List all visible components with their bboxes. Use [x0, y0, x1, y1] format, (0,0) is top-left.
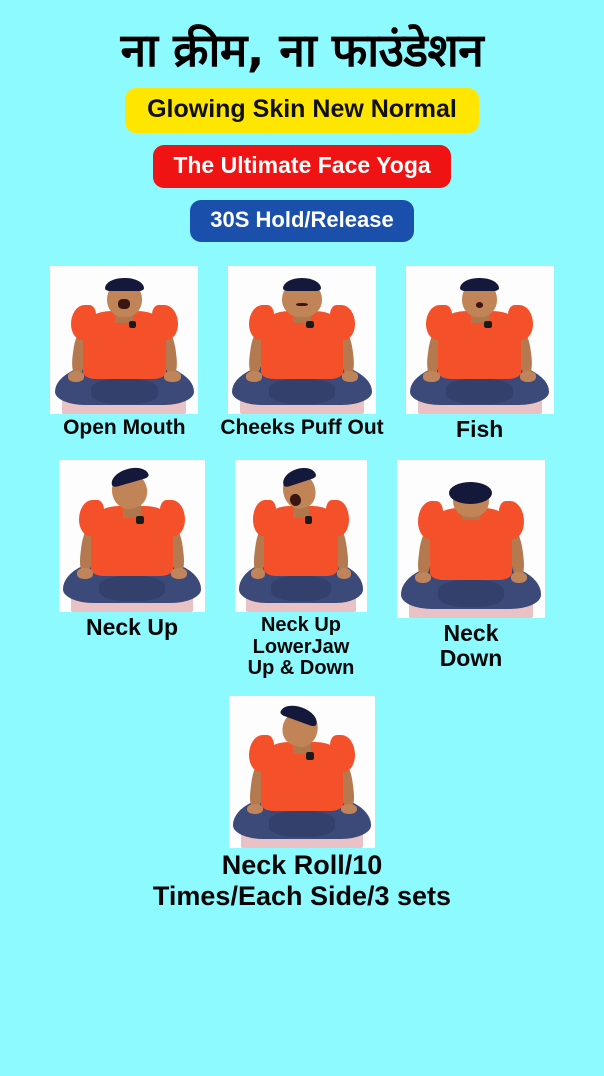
sleeve-right	[330, 735, 355, 771]
exercise-neck-up: Neck Up	[59, 460, 205, 640]
sleeve-left	[249, 735, 274, 771]
face-yoga-poster: ना क्रीम, ना फाउंडेशन Glowing Skin New N…	[0, 0, 604, 1076]
hand-left	[246, 371, 262, 381]
pose-photo-fish	[406, 266, 554, 414]
sleeve-left	[418, 501, 443, 539]
sleeve-left	[71, 305, 96, 341]
badge-ultimate-face-yoga: The Ultimate Face Yoga	[153, 145, 450, 188]
sleeve-right	[326, 500, 348, 536]
pose-photo-neck-up	[59, 460, 205, 612]
exercise-label-neck-roll: Neck Roll/10 Times/Each Side/3 sets	[153, 850, 451, 912]
hand-left	[251, 568, 266, 579]
microphone-icon	[305, 516, 312, 524]
exercise-label-cheeks-puff-out: Cheeks Puff Out	[220, 417, 383, 440]
hand-right	[337, 568, 352, 579]
exercise-label-neck-down: Neck Down	[440, 621, 503, 671]
hand-right	[171, 568, 187, 579]
hand-left	[415, 572, 431, 583]
microphone-icon	[136, 516, 143, 524]
badge-hold-release: 30S Hold/Release	[190, 200, 413, 242]
exercise-open-mouth: Open Mouth	[50, 266, 198, 440]
badge-glowing-skin: Glowing Skin New Normal	[125, 88, 479, 133]
hand-right	[164, 371, 180, 381]
exercise-label-open-mouth: Open Mouth	[63, 417, 185, 440]
exercise-cheeks-puff-out: Cheeks Puff Out	[220, 266, 383, 440]
sleeve-left	[426, 305, 451, 341]
mouth-pucker	[476, 302, 483, 308]
exercise-row-1: Open Mouth	[0, 266, 604, 442]
mouth-closed	[296, 303, 308, 307]
microphone-icon	[484, 321, 491, 328]
sleeve-left	[249, 305, 274, 341]
cap-icon	[283, 278, 321, 291]
sleeve-right	[160, 500, 185, 536]
exercise-label-fish: Fish	[456, 417, 503, 442]
pose-photo-neck-up-lower-jaw	[235, 460, 367, 612]
sleeve-left	[253, 500, 275, 536]
hand-left	[77, 568, 93, 579]
mouth-open	[118, 299, 130, 309]
exercise-row-3: Neck Roll/10 Times/Each Side/3 sets	[0, 696, 604, 912]
exercise-row-2: Neck Up	[0, 460, 604, 680]
exercise-label-neck-up: Neck Up	[86, 615, 178, 640]
microphone-icon	[306, 321, 313, 328]
hand-right	[520, 371, 536, 381]
microphone-icon	[129, 321, 136, 328]
pose-photo-open-mouth	[50, 266, 198, 414]
exercise-grid: Open Mouth	[0, 266, 604, 911]
pose-photo-neck-roll	[229, 696, 375, 848]
sleeve-right	[152, 305, 177, 341]
microphone-icon	[306, 752, 313, 760]
exercise-label-neck-up-lower-jaw: Neck Up LowerJaw Up & Down	[248, 615, 355, 680]
hand-left	[68, 371, 84, 381]
exercise-neck-up-lower-jaw: Neck Up LowerJaw Up & Down	[235, 460, 367, 680]
hand-right	[342, 371, 358, 381]
sleeve-right	[508, 305, 533, 341]
page-title: ना क्रीम, ना फाउंडेशन	[0, 0, 604, 74]
cap-icon	[460, 278, 498, 291]
pose-photo-neck-down	[397, 460, 545, 618]
pose-photo-cheeks-puff	[228, 266, 376, 414]
sleeve-left	[79, 500, 104, 536]
cap-icon	[105, 278, 143, 291]
exercise-neck-roll: Neck Roll/10 Times/Each Side/3 sets	[153, 696, 451, 912]
exercise-neck-down: Neck Down	[397, 460, 545, 671]
exercise-fish: Fish	[406, 266, 554, 442]
hand-left	[247, 804, 263, 815]
badge-group: Glowing Skin New Normal The Ultimate Fac…	[0, 88, 604, 242]
hand-left	[423, 371, 439, 381]
